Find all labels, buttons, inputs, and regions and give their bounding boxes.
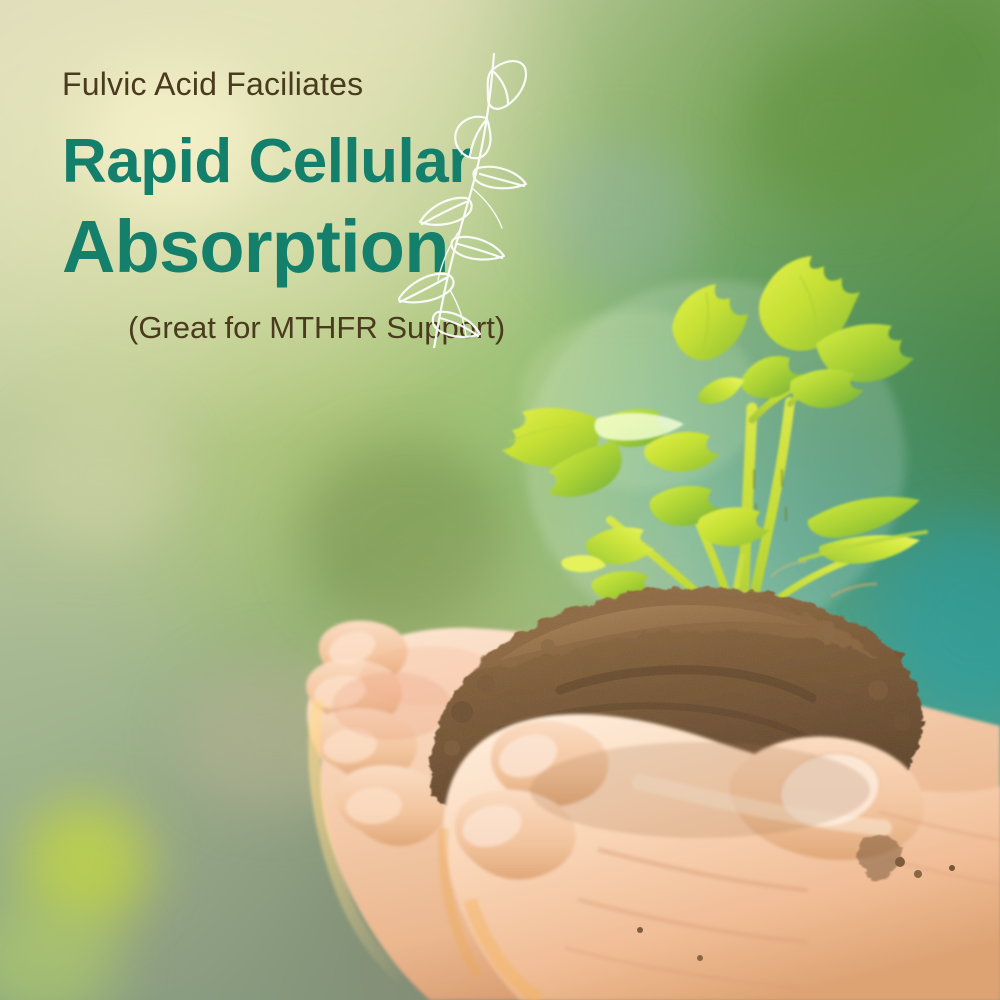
eyebrow-text: Fulvic Acid Faciliates [62, 66, 363, 103]
subnote-text: (Great for MTHFR Support) [128, 310, 505, 346]
headline-line-2: Absorption [62, 204, 449, 289]
headline-line-1: Rapid Cellular [62, 126, 472, 197]
marketing-banner: Fulvic Acid Faciliates Rapid Cellular Ab… [0, 0, 1000, 1000]
